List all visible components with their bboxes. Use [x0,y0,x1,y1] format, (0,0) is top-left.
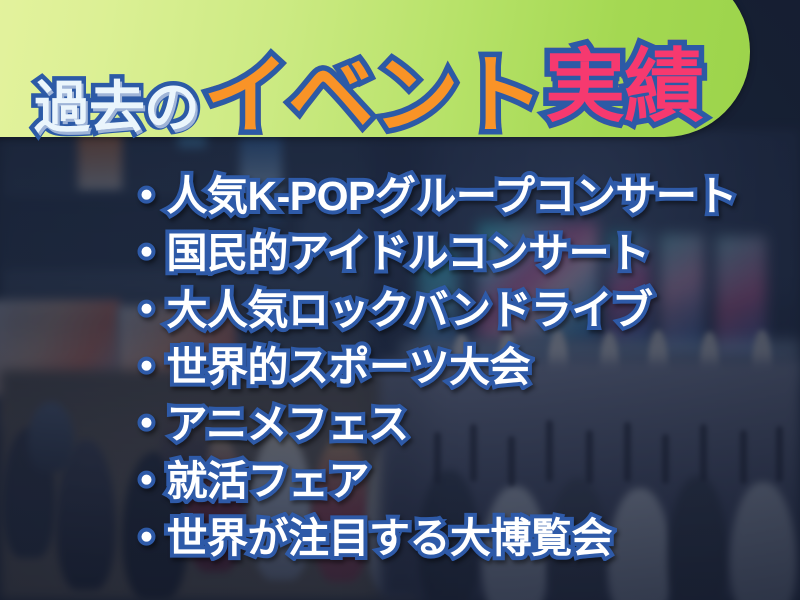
event-list: ・人気K-POPグループコンサート ・国民的アイドルコンサート ・大人気ロックバ… [126,168,737,567]
page-title: 過去の イベント 実績 [34,22,703,138]
list-item: ・世界的スポーツ大会 [126,339,737,396]
list-item: ・国民的アイドルコンサート [126,225,737,282]
title-segment-results: 実績 [545,22,703,138]
title-segment-past: 過去の [34,80,199,138]
list-item: ・世界が注目する大博覧会 [126,510,737,567]
list-item: ・就活フェア [126,453,737,510]
list-item: ・人気K-POPグループコンサート [126,168,737,225]
list-item: ・アニメフェス [126,396,737,453]
list-item: ・大人気ロックバンドライブ [126,282,737,339]
title-segment-event: イベント [203,56,543,138]
event-results-poster: 過去の イベント 実績 ・人気K-POPグループコンサート ・国民的アイドルコン… [0,0,800,600]
